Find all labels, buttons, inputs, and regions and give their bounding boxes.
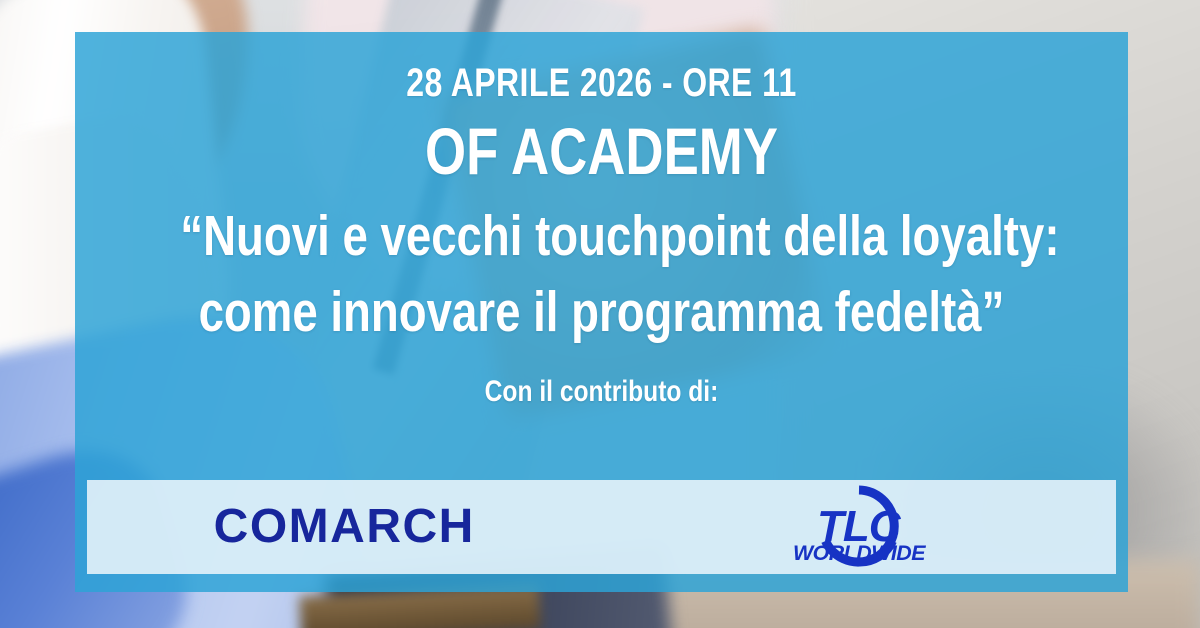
sponsor-logo-comarch[interactable]: COMARCH: [87, 480, 602, 574]
event-subtitle-line-2: come innovare il programma fedeltà”: [180, 274, 1022, 350]
contribution-label: Con il contributo di:: [170, 375, 1033, 409]
sponsor-bar: COMARCH TLC WORLDWIDE: [87, 480, 1116, 574]
tlc-worldwide-logo-icon: TLC WORLDWIDE: [779, 484, 939, 570]
event-date-time: 28 APRILE 2026 - ORE 11: [180, 62, 1022, 104]
svg-text:WORLDWIDE: WORLDWIDE: [793, 542, 927, 565]
event-subtitle-line-1: “Nuovi e vecchi touchpoint della loyalty…: [180, 198, 1022, 274]
sponsor-logo-tlc-worldwide[interactable]: TLC WORLDWIDE: [602, 480, 1117, 574]
headline-block: 28 APRILE 2026 - ORE 11 OF ACADEMY “Nuov…: [75, 32, 1128, 409]
event-subtitle: “Nuovi e vecchi touchpoint della loyalty…: [180, 198, 1022, 351]
comarch-wordmark: COMARCH: [214, 503, 475, 551]
event-promo-poster: 28 APRILE 2026 - ORE 11 OF ACADEMY “Nuov…: [0, 0, 1200, 628]
page-title: OF ACADEMY: [180, 118, 1022, 184]
